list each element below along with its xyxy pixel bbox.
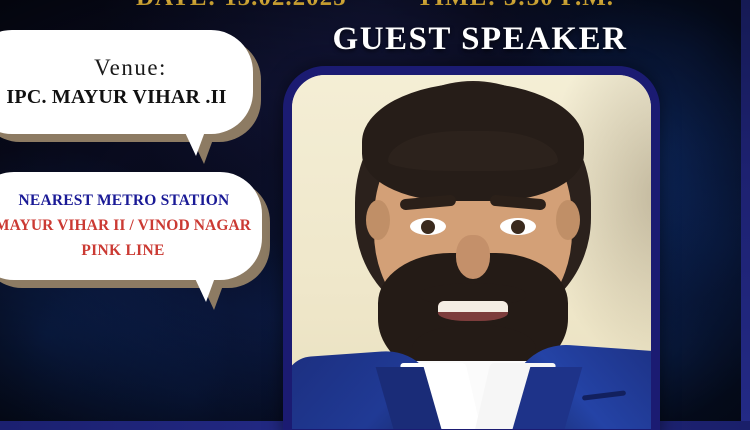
portrait-pupil-left xyxy=(421,220,435,234)
portrait-eye-right xyxy=(500,218,536,235)
header-strip: DATE: 15.02.2025 TIME: 3:30 P.M. xyxy=(0,0,750,12)
portrait-eye-left xyxy=(410,218,446,235)
metro-line-name: PINK LINE xyxy=(69,242,164,260)
portrait-ear-right xyxy=(556,200,580,240)
venue-label: Venue: xyxy=(56,55,167,80)
speaker-photo-frame xyxy=(283,66,660,430)
metro-bubble: NEAREST METRO STATION MAYUR VIHAR II / V… xyxy=(0,172,262,280)
portrait-ear-left xyxy=(366,200,390,240)
venue-bubble-tail xyxy=(182,126,207,156)
guest-speaker-poster: DATE: 15.02.2025 TIME: 3:30 P.M. GUEST S… xyxy=(0,0,750,430)
portrait-pupil-right xyxy=(511,220,525,234)
metro-station-names: MAYUR VIHAR II / VINOD NAGAR xyxy=(0,217,251,235)
portrait-hair-fringe xyxy=(388,131,558,171)
portrait-mouth xyxy=(438,301,508,321)
portrait-nose xyxy=(456,235,490,279)
time-text: TIME: 3:30 P.M. xyxy=(417,0,614,12)
metro-bubble-tail xyxy=(192,272,217,302)
page-title: GUEST SPEAKER xyxy=(300,21,660,58)
speaker-portrait-image xyxy=(292,75,651,429)
portrait-teeth xyxy=(438,301,508,312)
right-edge-band xyxy=(741,0,750,430)
venue-value: IPC. MAYUR VIHAR .II xyxy=(0,86,227,109)
date-text: DATE: 15.02.2025 xyxy=(136,0,347,12)
metro-heading: NEAREST METRO STATION xyxy=(5,192,230,210)
venue-bubble: Venue: IPC. MAYUR VIHAR .II xyxy=(0,30,253,134)
